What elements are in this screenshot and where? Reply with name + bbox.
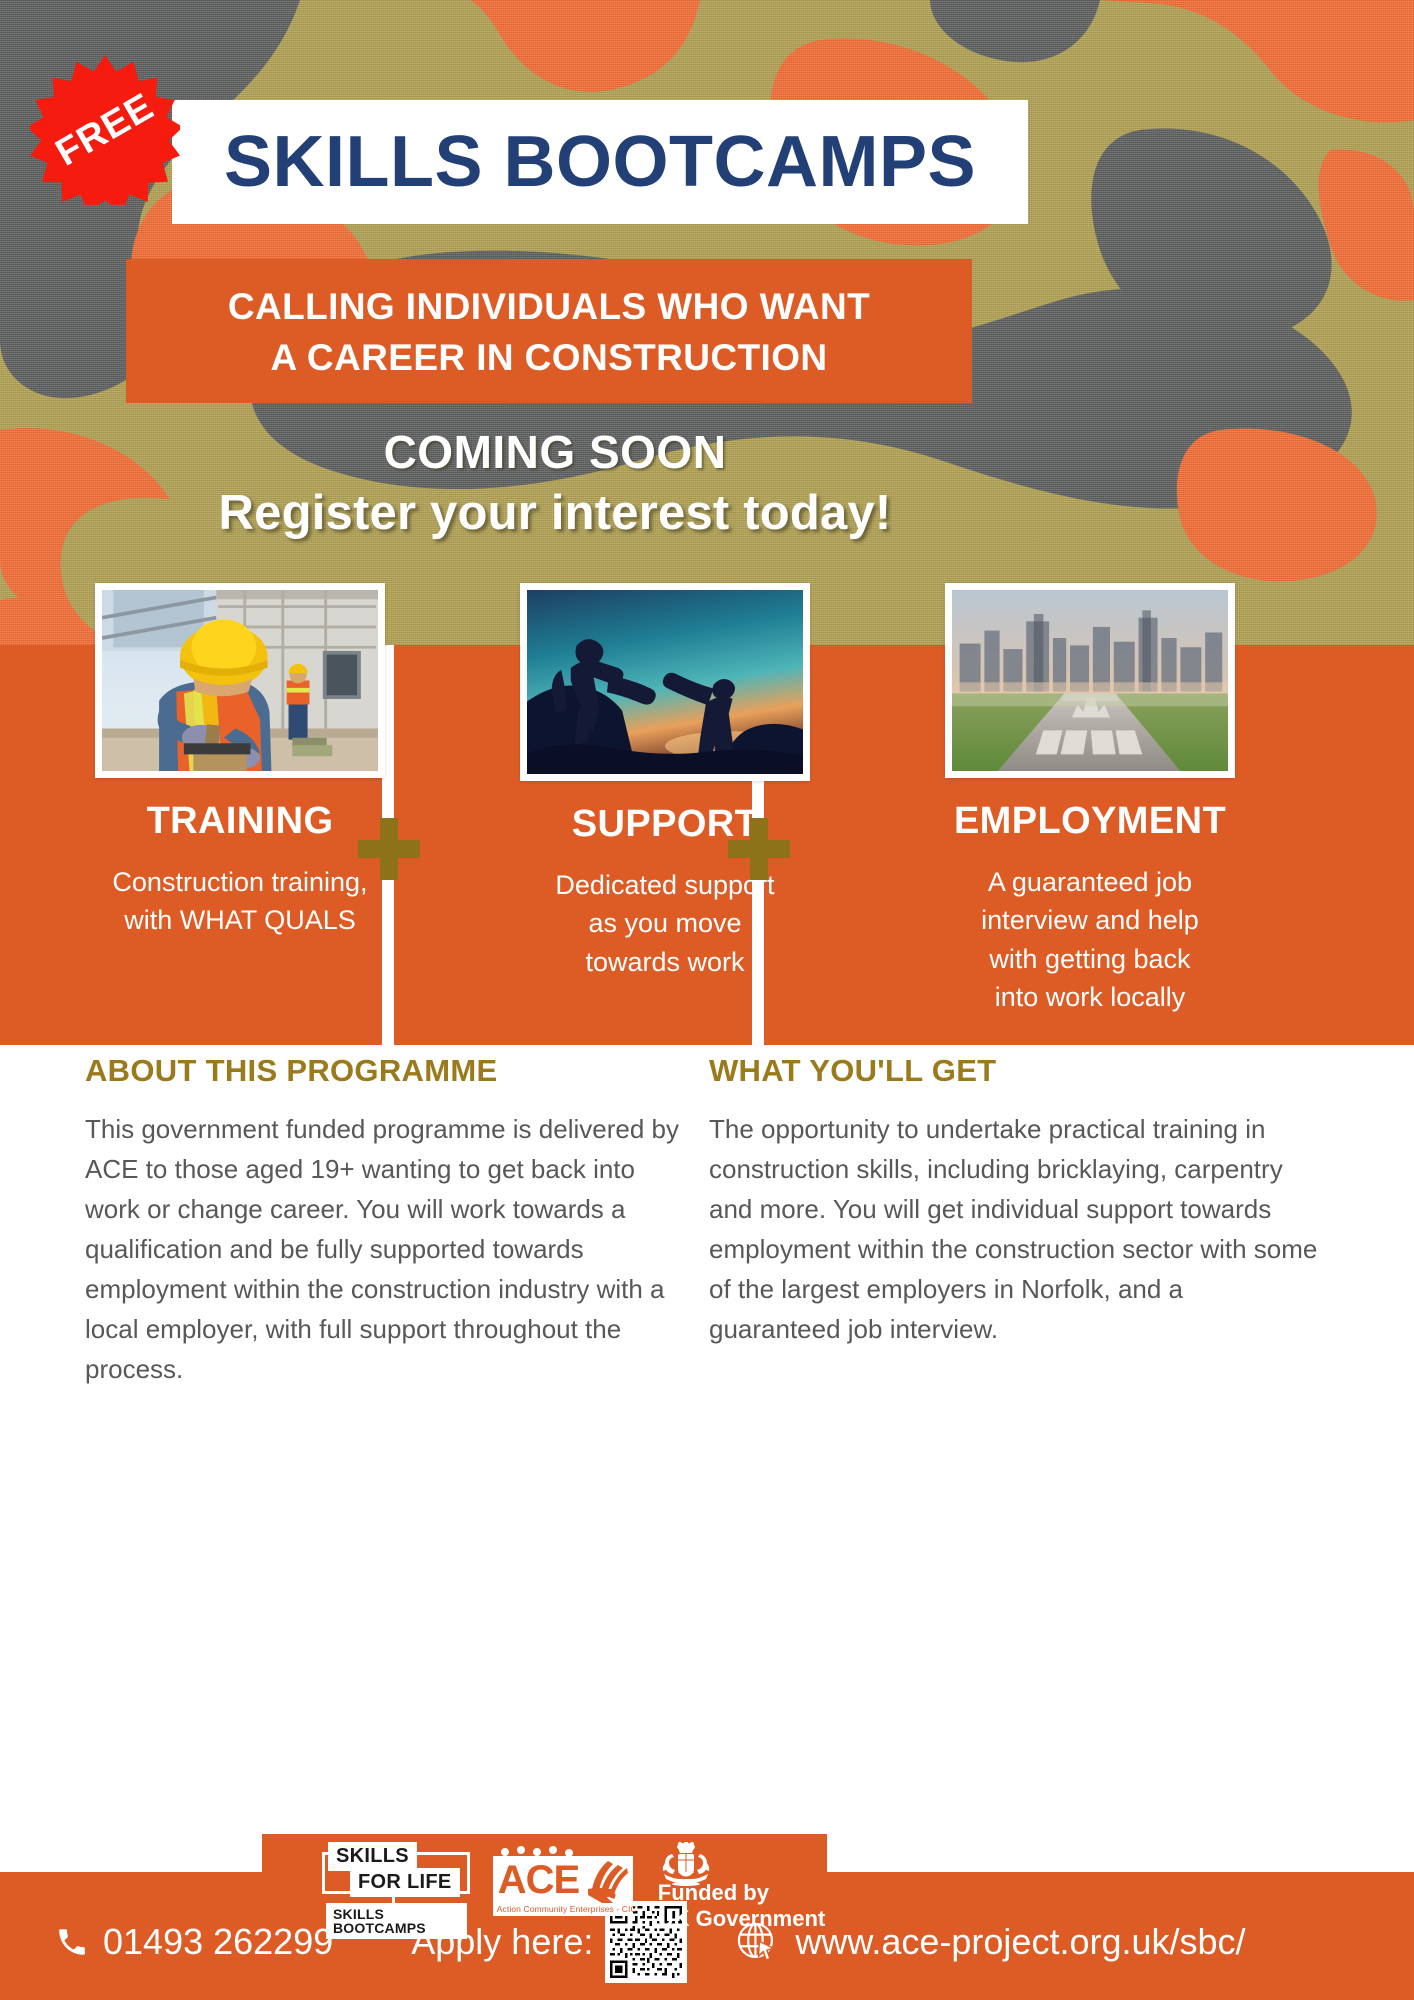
ace-tagline: Action Community Enterprises - CIC (497, 1904, 637, 1914)
ace-logo: ACE Action Community Enterprises - CIC (493, 1846, 630, 1922)
plus-separator-2 (728, 818, 790, 880)
benefits-heading: WHAT YOU'LL GET (709, 1053, 1319, 1089)
feature-desc-support: Dedicated support as you move towards wo… (555, 866, 774, 981)
ace-wordmark: ACE (498, 1860, 579, 1900)
subtitle-line-2: A CAREER IN CONSTRUCTION (270, 333, 827, 384)
subtitle-banner: CALLING INDIVIDUALS WHO WANT A CAREER IN… (126, 259, 972, 403)
phone-icon (55, 1925, 89, 1959)
uk-government-logo: Funded by UK Government (656, 1844, 827, 1924)
register-interest-text: Register your interest today! (0, 485, 1110, 541)
sfl-line-1: SKILLS (328, 1842, 417, 1871)
feature-card-employment: EMPLOYMENT A guaranteed job interview an… (900, 583, 1280, 1045)
about-body: This government funded programme is deli… (85, 1109, 685, 1389)
subtitle-line-1: CALLING INDIVIDUALS WHO WANT (228, 282, 870, 333)
info-columns: ABOUT THIS PROGRAMME This government fun… (0, 1053, 1414, 1389)
plus-separator-1 (358, 818, 420, 880)
construction-worker-photo (102, 590, 378, 771)
info-column-about: ABOUT THIS PROGRAMME This government fun… (85, 1053, 685, 1389)
funded-by-text: Funded by UK Government (658, 1880, 825, 1931)
free-badge: FREE (30, 55, 180, 205)
feature-card-training: TRAINING Construction training, with WHA… (50, 583, 430, 1045)
about-heading: ABOUT THIS PROGRAMME (85, 1053, 685, 1089)
feature-desc-employment: A guaranteed job interview and help with… (981, 863, 1199, 1016)
training-photo-frame (95, 583, 385, 778)
hand-swoosh-icon (586, 1859, 628, 1903)
support-photo-frame (520, 583, 810, 781)
feature-cards: TRAINING Construction training, with WHA… (0, 583, 1414, 1045)
poster-root: FREE SKILLS BOOTCAMPS CALLING INDIVIDUAL… (0, 0, 1414, 2000)
sfl-line-2: FOR LIFE (350, 1868, 460, 1897)
feature-desc-training: Construction training, with WHAT QUALS (112, 863, 367, 940)
skills-for-life-logo: SKILLS FOR LIFE SKILLS BOOTCAMPS (320, 1846, 467, 1922)
title-banner: SKILLS BOOTCAMPS (172, 100, 1028, 224)
jobs-road-to-city-photo (952, 590, 1228, 771)
sfl-line-3: SKILLS BOOTCAMPS (326, 1903, 467, 1939)
footer-logos: SKILLS FOR LIFE SKILLS BOOTCAMPS ACE (262, 1834, 827, 1934)
feature-label-training: TRAINING (147, 800, 334, 843)
feature-card-support: SUPPORT Dedicated support as you move to… (475, 583, 855, 1045)
poster-title: SKILLS BOOTCAMPS (224, 121, 976, 203)
info-column-benefits: WHAT YOU'LL GET The opportunity to under… (709, 1053, 1319, 1389)
coming-soon-block: COMING SOON Register your interest today… (0, 425, 1110, 541)
helping-hand-silhouette-photo (527, 590, 803, 774)
coming-soon-text: COMING SOON (0, 425, 1110, 479)
website-url: www.ace-project.org.uk/sbc/ (795, 1921, 1245, 1963)
benefits-body: The opportunity to undertake practical t… (709, 1109, 1319, 1349)
feature-label-employment: EMPLOYMENT (954, 800, 1226, 843)
employment-photo-frame (945, 583, 1235, 778)
